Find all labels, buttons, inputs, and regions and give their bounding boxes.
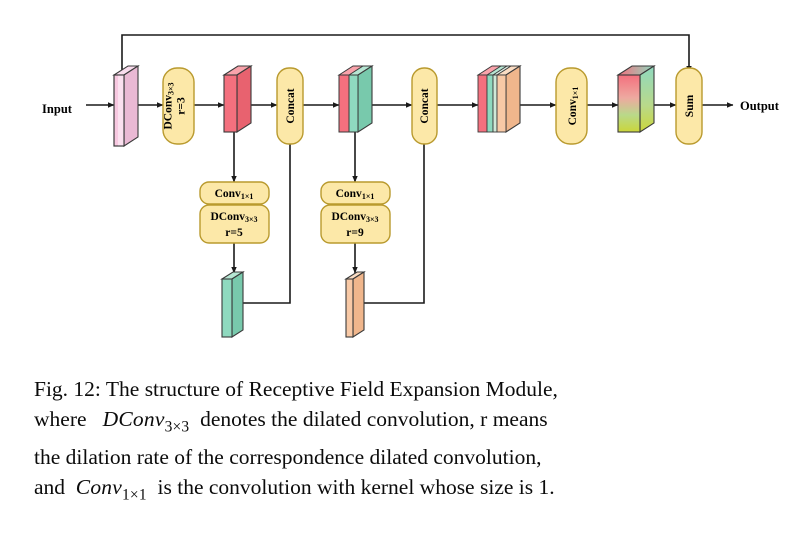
feature-map-after-dconv3 <box>224 66 251 132</box>
branch-a-dconv-rate: r=5 <box>225 227 243 239</box>
branch-b-conv-sub: 1×1 <box>362 192 375 201</box>
caption-line-1: Fig. 12: The structure of Receptive Fiel… <box>34 374 782 404</box>
branch-b-dconv-rate: r=9 <box>346 227 364 239</box>
branch-a-dconv-name: DConv <box>210 211 245 223</box>
figure-container: DConv3×3 r=3 Concat <box>0 0 811 535</box>
caption-l2-a: where <box>34 407 87 431</box>
op-conv1x1-main[interactable]: Conv1×1 <box>556 68 587 144</box>
branch-b-dconv-r9[interactable]: DConv3×3 r=9 <box>321 205 390 243</box>
branch-a-dconv-r5[interactable]: DConv3×3 r=5 <box>200 205 269 243</box>
op-sum[interactable]: Sum <box>676 68 702 144</box>
sum-label: Sum <box>684 94 696 117</box>
caption-line-4: and Conv1×1 is the convolution with kern… <box>34 472 782 510</box>
concat-2-label: Concat <box>419 88 431 123</box>
feature-map-gradient <box>618 66 654 132</box>
dconv-r3-sub: 3×3 <box>167 82 176 95</box>
op-dconv-r3[interactable]: DConv3×3 r=3 <box>163 68 195 144</box>
conv1x1-main-sub: 1×1 <box>571 87 580 100</box>
caption-line-3: the dilation rate of the correspondence … <box>34 442 782 472</box>
caption-l4-b: is the convolution with kernel whose siz… <box>158 475 555 499</box>
feature-map-branch-b <box>346 272 364 337</box>
input-label: Input <box>42 102 73 116</box>
figure-caption: Fig. 12: The structure of Receptive Fiel… <box>34 374 782 511</box>
branch-b-dconv-sub: 3×3 <box>366 215 379 224</box>
dconv-r3-rate: r=3 <box>176 97 188 115</box>
branch-b-conv1x1[interactable]: Conv1×1 <box>321 182 390 204</box>
feature-map-branch-a <box>222 272 243 337</box>
skip-connection-line <box>122 35 689 75</box>
feature-map-concat1 <box>339 66 372 132</box>
concat-1-label: Concat <box>285 88 297 123</box>
caption-dconv-name: DConv <box>103 407 165 431</box>
caption-conv-name: Conv <box>76 475 122 499</box>
caption-l4-a: and <box>34 475 65 499</box>
conv1x1-main-name: Conv <box>567 99 579 125</box>
branch-a-dconv-sub: 3×3 <box>245 215 258 224</box>
caption-conv-sub: 1×1 <box>122 487 147 504</box>
branch-a-conv1x1[interactable]: Conv1×1 <box>200 182 269 204</box>
caption-dconv-math: DConv3×3 <box>103 407 190 431</box>
caption-conv-math: Conv1×1 <box>76 475 147 499</box>
feature-map-concat2 <box>478 66 520 132</box>
caption-line-2: where DConv3×3 denotes the dilated convo… <box>34 404 782 442</box>
branch-b-conv-name: Conv <box>336 188 362 200</box>
branch-a-conv-name: Conv <box>215 188 241 200</box>
branch-a-conv-sub: 1×1 <box>241 192 254 201</box>
architecture-diagram: DConv3×3 r=3 Concat <box>0 0 811 360</box>
output-label: Output <box>740 99 780 113</box>
op-concat-1[interactable]: Concat <box>277 68 303 144</box>
caption-dconv-sub: 3×3 <box>165 418 190 435</box>
branch-b-dconv-name: DConv <box>331 211 366 223</box>
caption-l2-b: denotes the dilated convolution, r means <box>200 407 548 431</box>
feature-map-input <box>114 66 138 146</box>
dconv-r3-name: DConv <box>163 95 175 130</box>
op-concat-2[interactable]: Concat <box>412 68 437 144</box>
